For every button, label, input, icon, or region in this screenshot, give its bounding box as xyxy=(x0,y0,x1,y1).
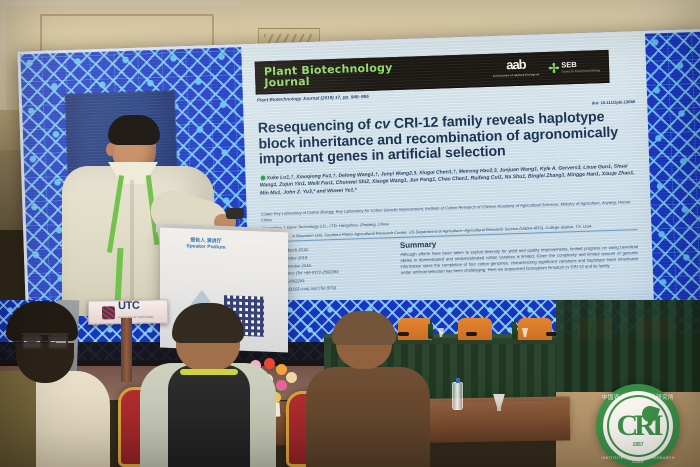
audience-person-vest xyxy=(0,371,36,467)
conference-photo: Plant Biotechnology Journal aab associat… xyxy=(0,0,700,467)
utc-text: UTC xyxy=(118,300,140,312)
cri-logo-year: 1957 xyxy=(596,442,680,448)
head-table-chair xyxy=(458,318,492,340)
speaker-ear xyxy=(106,143,115,156)
head-table-chair xyxy=(398,318,432,340)
head-table-bottle xyxy=(428,324,433,339)
lectern-sign-post xyxy=(121,318,132,382)
head-table-microphone xyxy=(398,332,409,336)
audience-person-vest xyxy=(168,365,250,467)
podium-label: 报告人 演讲厅 Speaker Podium xyxy=(176,237,236,251)
eyeglasses-icon xyxy=(22,333,68,345)
presenter-clicker xyxy=(226,208,244,219)
utc-emblem-icon xyxy=(102,306,115,319)
head-table-bottle xyxy=(512,324,517,339)
head-table-microphone xyxy=(466,332,477,336)
speaker-shirt-placket xyxy=(130,180,134,300)
water-bottle xyxy=(452,382,463,410)
speaker-hair xyxy=(108,115,160,145)
stage-curtain xyxy=(556,300,700,396)
audience-person-torso xyxy=(306,367,430,467)
cri-watermark-logo: 中国农业科学院棉花研究所 INSTITUTE OF COTTON RESEARC… xyxy=(596,384,680,467)
audience-person-lanyard xyxy=(180,369,238,375)
